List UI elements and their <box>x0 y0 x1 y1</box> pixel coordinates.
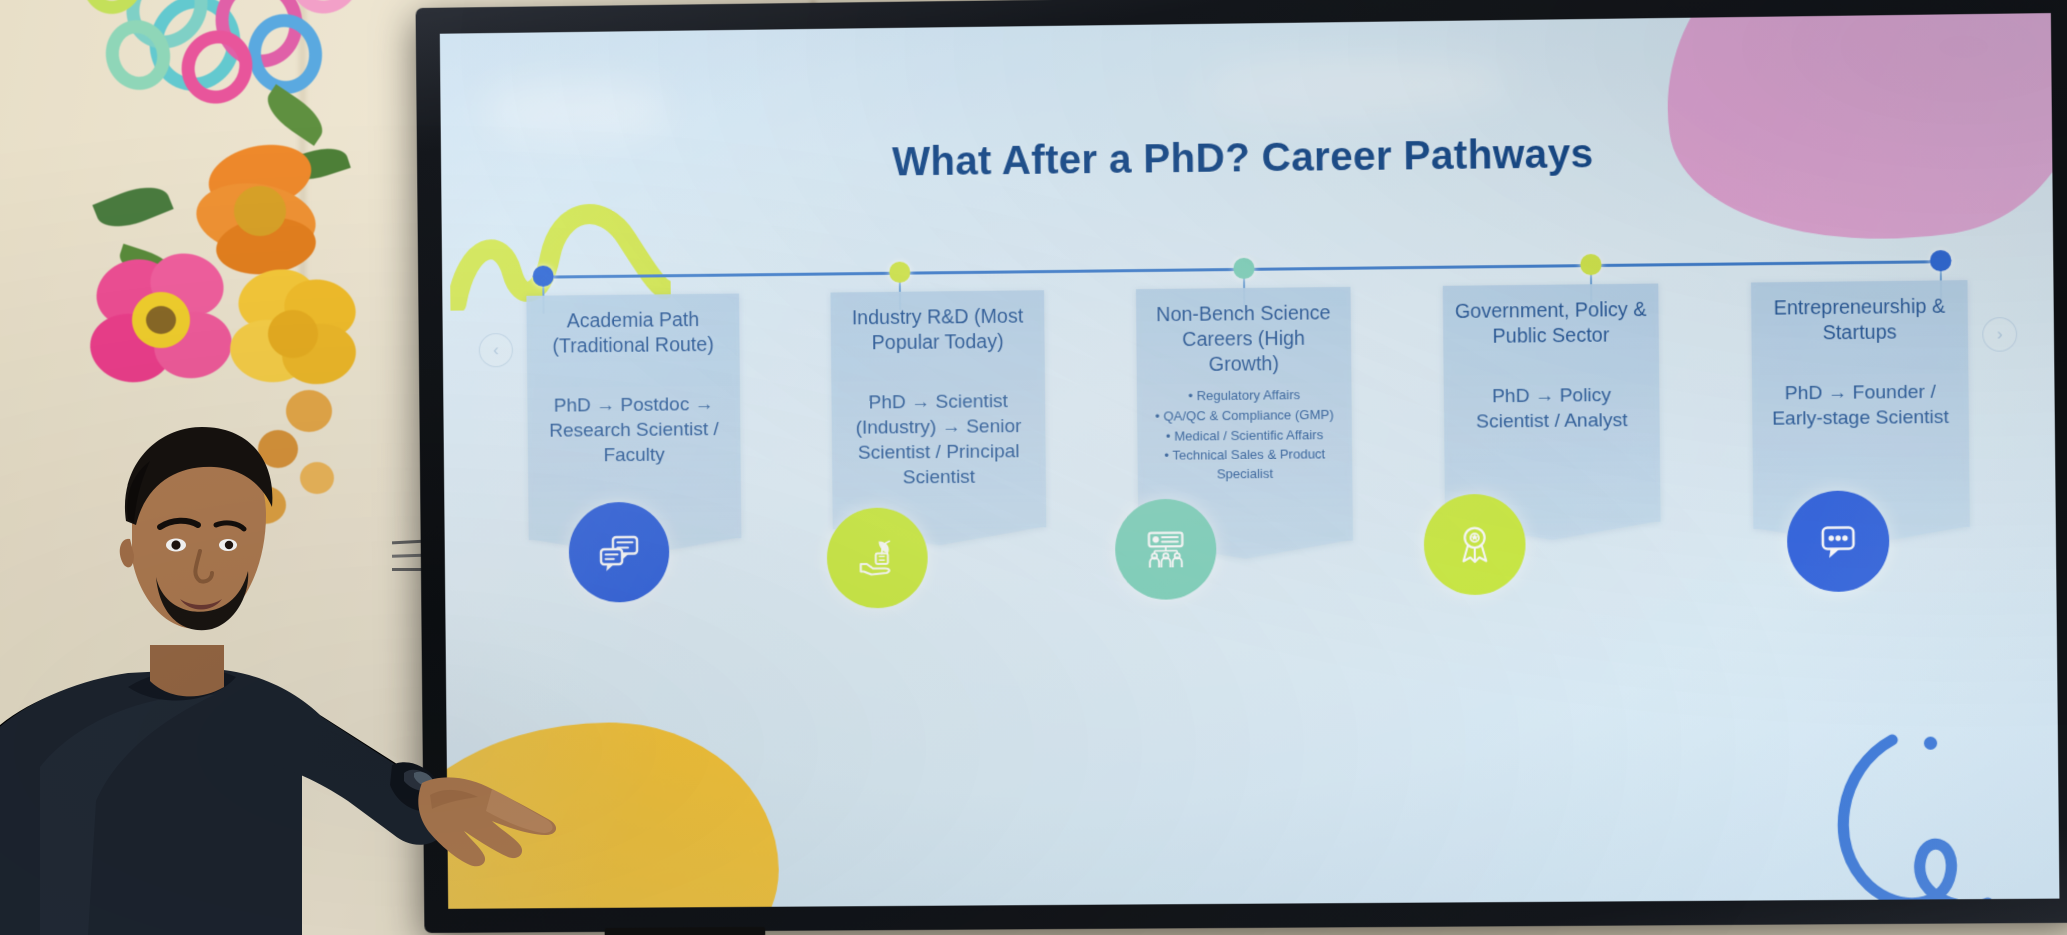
wall-display[interactable]: What After a PhD? Career Pathways ‹ › <box>416 0 2067 933</box>
screen-glare <box>1204 56 1509 117</box>
slide-screen[interactable]: What After a PhD? Career Pathways ‹ › <box>440 13 2060 909</box>
award-ribbon-icon <box>1450 520 1499 569</box>
timeline-node-5[interactable] <box>1930 250 1952 271</box>
card-title: Industry R&D (Most Popular Today) <box>842 304 1034 356</box>
next-slide-button[interactable]: › <box>1982 317 2017 352</box>
paper-flower-orange <box>190 140 330 280</box>
card-bullet-list: Regulatory Affairs QA/QC & Compliance (G… <box>1148 386 1341 486</box>
card-body: PhD → Scientist (Industry) → Senior Scie… <box>842 389 1034 492</box>
lime-squiggle-decoration <box>449 193 671 311</box>
pathway-card-industry-rd[interactable]: Industry R&D (Most Popular Today) PhD → … <box>830 290 1046 529</box>
paper-ribbon-decoration <box>120 0 420 150</box>
list-item: Technical Sales & Product Specialist <box>1149 445 1342 485</box>
icon-badge-industry-rd[interactable] <box>827 507 929 608</box>
icon-badge-non-bench-science[interactable] <box>1115 499 1217 600</box>
card-title: Entrepreneurship & Startups <box>1762 294 1957 346</box>
chat-dots-icon <box>1813 517 1862 566</box>
card-body: PhD → Policy Scientist / Analyst <box>1455 382 1649 434</box>
pathway-icons <box>528 490 1970 614</box>
timeline-node-2[interactable] <box>889 262 910 283</box>
blue-dot-decoration <box>1924 737 1937 750</box>
card-title: Non-Bench Science Careers (High Growth) <box>1147 301 1340 378</box>
training-presentation-icon <box>1141 525 1190 574</box>
timeline-node-1[interactable] <box>533 266 554 287</box>
room-scene: What After a PhD? Career Pathways ‹ › <box>0 0 2067 935</box>
timeline-node-4[interactable] <box>1580 254 1602 275</box>
icon-badge-entrepreneurship[interactable] <box>1787 490 1890 592</box>
hand-plant-icon <box>853 534 902 583</box>
icon-badge-government-policy[interactable] <box>1423 494 1526 596</box>
list-item: Regulatory Affairs <box>1148 386 1340 407</box>
pathway-card-government-policy[interactable]: Government, Policy & Public Sector PhD →… <box>1443 284 1661 524</box>
blue-squiggle-decoration <box>1812 715 2018 909</box>
card-body: PhD → Founder / Early-stage Scientist <box>1763 379 1958 432</box>
list-item: QA/QC & Compliance (GMP) <box>1148 405 1340 426</box>
screen-glare <box>485 79 666 141</box>
paper-leaf <box>92 177 173 236</box>
card-title: Government, Policy & Public Sector <box>1454 298 1648 350</box>
timeline-node-3[interactable] <box>1234 258 1255 279</box>
presenter <box>0 315 640 935</box>
list-item: Medical / Scientific Affairs <box>1148 425 1340 446</box>
